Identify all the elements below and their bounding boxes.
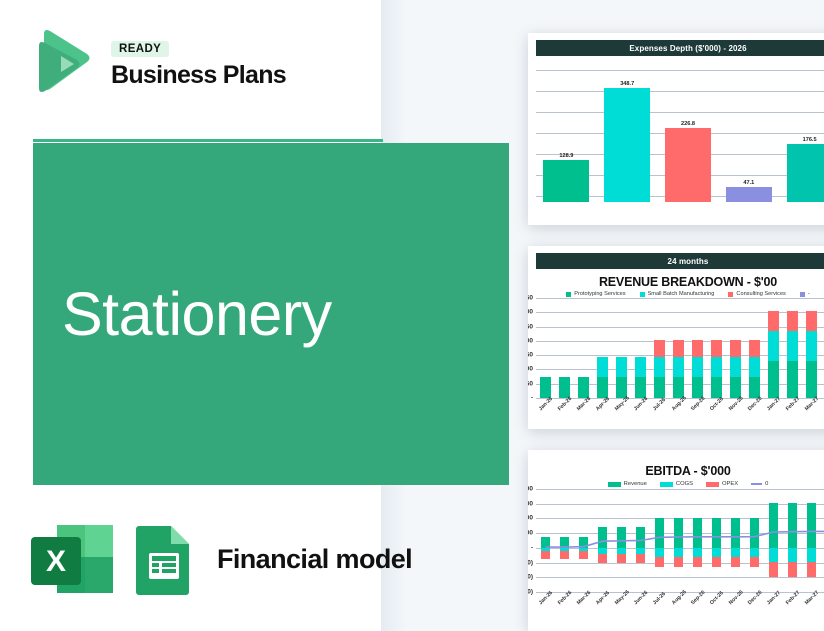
y-axis-label: 300 (528, 309, 533, 316)
y-axis-label: - (531, 544, 533, 551)
expenses-bar-value: 176.5 (803, 137, 817, 143)
gridline (536, 70, 824, 71)
y-axis-label: - (531, 395, 533, 402)
stacked-bar-segment (711, 340, 721, 357)
stacked-bar-column: Jan-27 (768, 298, 778, 398)
stacked-bar-column: Feb-27 (787, 298, 797, 398)
y-axis-label: 100 (528, 366, 533, 373)
stacked-bar-segment (654, 340, 664, 357)
stacked-bar-segment (711, 357, 721, 377)
chart-card-ebitda[interactable]: EBITDA - $'000 RevenueCOGSOPEX0 40030020… (528, 450, 824, 631)
legend-item: OPEX (706, 481, 738, 487)
ebitda-plot-area: 400300200100-(100)(200)(300)Jan-26Feb-26… (536, 489, 824, 592)
legend-label: 0 (765, 481, 768, 487)
hero-block: Stationery (33, 143, 509, 485)
stacked-bar-segment (768, 311, 778, 332)
legend-swatch (566, 292, 571, 297)
revenue-legend: Prototyping ServicesSmall Batch Manufact… (528, 291, 824, 297)
legend-swatch (706, 482, 719, 487)
ebitda-chart-title: EBITDA - $'000 (528, 464, 824, 478)
y-axis-label: 400 (528, 486, 533, 493)
stacked-bar-segment (692, 340, 702, 357)
legend-label: - (808, 291, 810, 297)
ready-badge: READY (111, 41, 169, 57)
y-axis-label: (200) (528, 574, 533, 581)
stacked-bar-segment (806, 361, 816, 398)
stacked-bar-column: Apr-26 (597, 298, 607, 398)
stacked-bar-column: May-26 (616, 298, 626, 398)
y-axis-label: (100) (528, 559, 533, 566)
y-axis-label: 150 (528, 352, 533, 359)
revenue-ribbon-title: 24 months (536, 253, 824, 269)
expenses-bar: 47.1 (726, 187, 772, 202)
expenses-bar-value: 128.9 (559, 153, 573, 159)
stacked-bar-segment (787, 311, 797, 332)
stacked-bar-column: Sep-26 (692, 298, 702, 398)
brand-text: READY Business Plans (111, 35, 286, 88)
y-axis-label: 100 (528, 530, 533, 537)
stacked-bar-column: Oct-26 (711, 298, 721, 398)
expenses-plot-area: 128.9348.7226.847.1176.5 (536, 62, 824, 202)
y-axis-label: 200 (528, 337, 533, 344)
y-axis-label: (300) (528, 589, 533, 596)
legend-item: Consulting Services (728, 291, 785, 297)
legend-item: COGS (660, 481, 693, 487)
legend-item: Revenue (608, 481, 647, 487)
stacked-bar-column: Jun-26 (635, 298, 645, 398)
expenses-bar-value: 348.7 (620, 81, 634, 87)
legend-label: Consulting Services (736, 291, 785, 297)
play-arrow-logo-icon (27, 26, 97, 98)
legend-swatch (608, 482, 621, 487)
expenses-bar-value: 226.8 (681, 121, 695, 127)
stacked-bar-segment (673, 340, 683, 357)
stacked-bar-column: Nov-26 (730, 298, 740, 398)
expenses-bar: 176.5 (787, 144, 824, 202)
legend-label: Small Batch Manufacturing (648, 291, 715, 297)
legend-item: Prototyping Services (566, 291, 625, 297)
brand-logo: READY Business Plans (27, 26, 286, 98)
brand-name: Business Plans (111, 62, 286, 88)
gridline (536, 91, 824, 92)
chart-card-revenue[interactable]: 24 months REVENUE BREAKDOWN - $'00 Proto… (528, 246, 824, 429)
stacked-bar-column: Dec-26 (749, 298, 759, 398)
y-axis-label: 250 (528, 323, 533, 330)
x-axis-label: Jul-26 (652, 397, 667, 412)
stacked-bar-segment (692, 357, 702, 377)
legend-label: Revenue (624, 481, 647, 487)
legend-label: OPEX (722, 481, 738, 487)
legend-swatch (640, 292, 645, 297)
expenses-bar-value: 47.1 (743, 180, 754, 186)
stacked-bar-segment (806, 331, 816, 360)
y-axis-label: 50 (528, 380, 533, 387)
gridline (536, 112, 824, 113)
stacked-bar-column: Aug-26 (673, 298, 683, 398)
revenue-plot-area: 35030025020015010050-Jan-26Feb-26Mar-26A… (536, 298, 824, 398)
svg-text:X: X (46, 545, 66, 578)
stacked-bar-segment (749, 340, 759, 357)
y-axis-label: 350 (528, 295, 533, 302)
legend-swatch (800, 292, 805, 297)
legend-swatch (660, 482, 673, 487)
microsoft-excel-icon: X (29, 523, 115, 595)
legend-item: 0 (751, 481, 768, 487)
stacked-bar-segment (654, 357, 664, 377)
stacked-bar-segment (654, 377, 664, 398)
y-axis-label: 200 (528, 515, 533, 522)
stacked-bar-segment (616, 357, 626, 377)
page-title: Stationery (62, 279, 332, 349)
y-axis-label: 300 (528, 500, 533, 507)
stacked-bar-column: Jan-26 (540, 298, 550, 398)
stacked-bar-segment (787, 331, 797, 360)
stacked-bar-column: Mar-27 (806, 298, 816, 398)
legend-label: COGS (676, 481, 693, 487)
legend-swatch (728, 292, 733, 297)
expenses-bar: 128.9 (543, 160, 589, 202)
stacked-bar-segment (730, 357, 740, 377)
stacked-bar-segment (806, 311, 816, 332)
stacked-bar-segment (597, 357, 607, 377)
stacked-bar-column: Mar-26 (578, 298, 588, 398)
stacked-bar-column: Feb-26 (559, 298, 569, 398)
zero-line-series (536, 489, 824, 592)
divider (33, 139, 383, 142)
footer-row: X Financial model (29, 523, 412, 595)
google-sheets-icon (133, 523, 195, 595)
legend-item: - (800, 291, 810, 297)
stacked-bar-segment (749, 357, 759, 377)
revenue-chart-title: REVENUE BREAKDOWN - $'00 (528, 275, 824, 289)
stacked-bar-segment (768, 361, 778, 398)
footer-label: Financial model (217, 544, 412, 575)
stacked-bar-segment (787, 361, 797, 398)
stacked-bar-segment (673, 357, 683, 377)
legend-label: Prototyping Services (574, 291, 625, 297)
stacked-bar-column: Jul-26 (654, 298, 664, 398)
stacked-bar-segment (730, 340, 740, 357)
chart-card-expenses[interactable]: Expenses Depth ($'000) - 2026 128.9348.7… (528, 33, 824, 225)
stacked-bar-segment (768, 331, 778, 360)
legend-item: Small Batch Manufacturing (640, 291, 715, 297)
ebitda-legend: RevenueCOGSOPEX0 (528, 481, 824, 487)
stacked-bar-segment (635, 357, 645, 377)
legend-line-marker (751, 483, 762, 485)
expenses-bar: 226.8 (665, 128, 711, 202)
expenses-bar: 348.7 (604, 88, 650, 202)
expenses-ribbon-title: Expenses Depth ($'000) - 2026 (536, 40, 824, 56)
x-axis-label: Jul-26 (652, 591, 667, 606)
